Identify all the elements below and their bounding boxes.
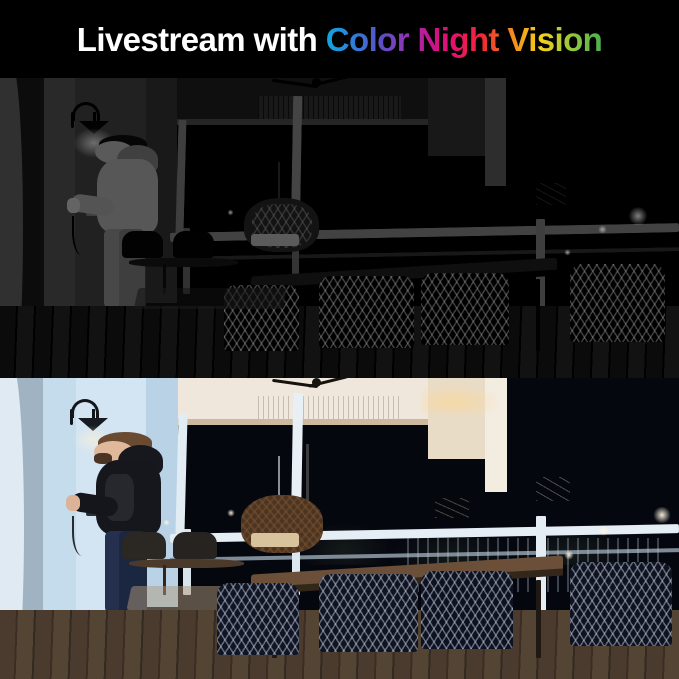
panel-traditional-night-vision: Traditional Night Vision xyxy=(0,78,679,378)
ceiling-fan-icon xyxy=(272,78,381,90)
light-bokeh xyxy=(227,209,234,216)
table-leg xyxy=(536,279,540,351)
patio-chair xyxy=(173,231,214,258)
page-title: Livestream with Color Night Vision xyxy=(77,23,602,56)
light-bokeh xyxy=(625,207,651,225)
scene-traditional xyxy=(0,78,679,378)
gable-wall xyxy=(428,78,489,156)
bare-branch xyxy=(536,183,566,205)
light-bokeh xyxy=(564,249,571,256)
patio-chair xyxy=(173,532,217,559)
ceiling-fan-icon xyxy=(272,378,381,390)
dining-chair xyxy=(319,574,417,652)
dining-chair xyxy=(319,276,414,348)
person-jacket xyxy=(97,159,158,232)
outdoor-rug xyxy=(134,288,288,309)
dining-chair xyxy=(421,571,513,649)
string-light xyxy=(564,550,574,560)
night-vision-comparison-graphic: Livestream with Color Night Vision xyxy=(0,0,679,679)
porch-light-glow xyxy=(421,384,502,414)
person-hand xyxy=(66,495,81,511)
scene-color xyxy=(0,378,679,679)
header-banner: Livestream with Color Night Vision xyxy=(0,0,679,78)
dining-chair xyxy=(217,583,298,655)
side-table xyxy=(129,258,238,267)
dining-chair xyxy=(570,562,672,646)
bare-branch xyxy=(536,477,570,501)
page-title-gradient: Color Night Vision xyxy=(326,21,602,58)
table-leg xyxy=(536,580,541,658)
patio-chair xyxy=(122,231,163,258)
dining-chair xyxy=(421,273,509,345)
lit-shrub xyxy=(435,498,469,518)
light-bokeh xyxy=(598,225,607,234)
side-table xyxy=(129,559,244,569)
person-hand xyxy=(67,198,80,212)
corner-post xyxy=(485,78,505,186)
page-title-plain: Livestream with xyxy=(77,21,326,58)
patio-chair xyxy=(122,532,166,559)
panel-color-night-vision: Color Night Vision xyxy=(0,378,679,679)
egg-chair-cushion xyxy=(251,533,299,547)
egg-chair-cushion xyxy=(251,234,299,246)
string-light xyxy=(598,525,609,536)
dining-chair xyxy=(570,264,665,342)
